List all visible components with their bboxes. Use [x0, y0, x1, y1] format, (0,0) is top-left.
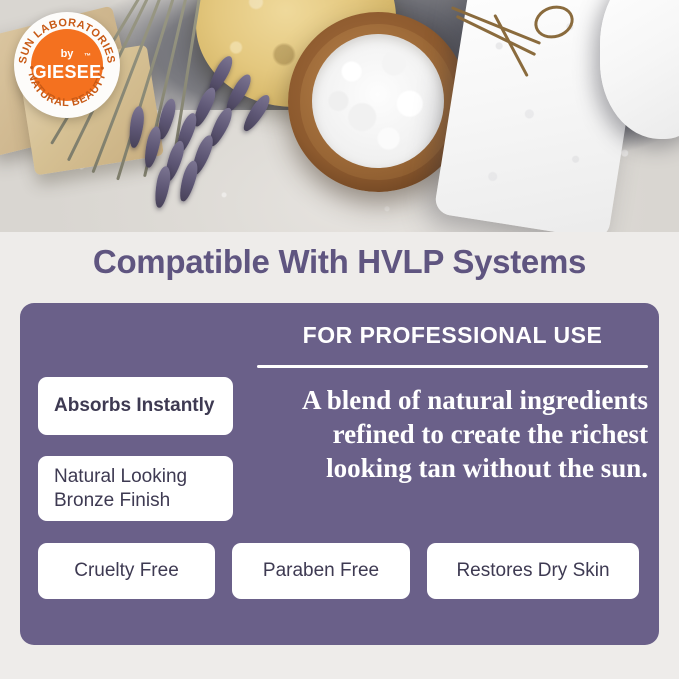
feature-pill-paraben-free[interactable]: Paraben Free [232, 543, 410, 599]
feature-pill-label: Absorbs Instantly [54, 395, 214, 417]
logo-trademark-label: ™ [84, 53, 91, 60]
brand-logo-badge[interactable]: • SUN LABORATORIES • • NATURAL BEAUTY • … [14, 12, 120, 118]
logo-brand-label: GIESEE [14, 62, 120, 83]
logo-by-label: by [14, 48, 120, 60]
feature-pill-label: Paraben Free [263, 560, 379, 582]
panel-description: A blend of natural ingredients refined t… [252, 383, 648, 485]
page-title: Compatible With HVLP Systems [0, 243, 679, 281]
feature-pill-absorbs-instantly[interactable]: Absorbs Instantly [38, 377, 233, 435]
feature-pill-label: Restores Dry Skin [456, 560, 609, 582]
product-infographic: • SUN LABORATORIES • • NATURAL BEAUTY • … [0, 0, 679, 679]
panel-divider [257, 365, 648, 368]
feature-pill-natural-looking-bronze-finish[interactable]: Natural Looking Bronze Finish [38, 456, 233, 521]
feature-pill-cruelty-free[interactable]: Cruelty Free [38, 543, 215, 599]
bath-salt-icon [312, 34, 444, 168]
feature-pill-restores-dry-skin[interactable]: Restores Dry Skin [427, 543, 639, 599]
feature-pill-label: Natural Looking Bronze Finish [54, 465, 233, 513]
feature-pill-label: Cruelty Free [74, 560, 179, 582]
panel-heading: FOR PROFESSIONAL USE [257, 322, 648, 349]
